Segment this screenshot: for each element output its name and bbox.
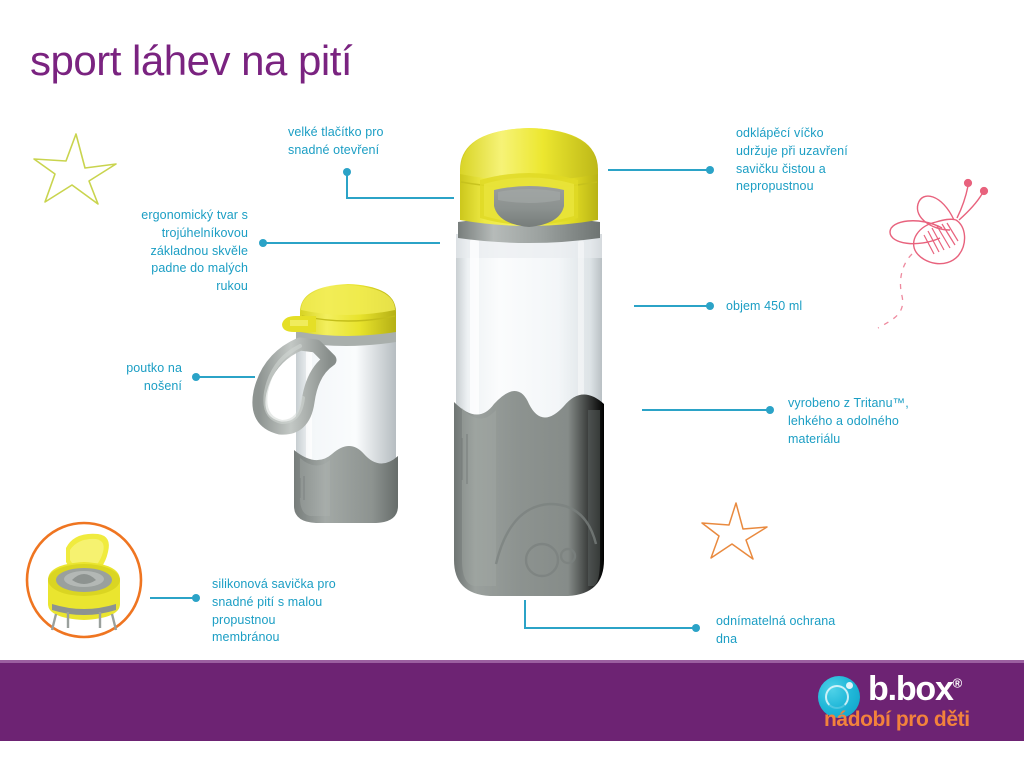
bbox-logo: b.box® nádobí pro děti	[818, 672, 998, 734]
connector-line-carry-loop	[197, 376, 255, 378]
bbox-brand-text: b.box	[868, 670, 953, 708]
callout-carry-loop: poutko na nošení	[60, 360, 182, 396]
large-bottle-image	[418, 108, 640, 628]
callout-removable-base: odnímatelná ochrana dna	[716, 613, 896, 649]
callout-tritan-material: vyrobeno z Tritanu™, lehkého a odolného …	[788, 395, 958, 448]
bee-doodle-icon	[862, 172, 1002, 340]
connector-line-tritan	[642, 409, 768, 411]
page-title: sport láhev na pití	[30, 40, 352, 82]
connector-line-volume	[634, 305, 708, 307]
star-green-icon	[28, 128, 120, 210]
connector-line-flip-lid	[608, 169, 708, 171]
connector-line-big-button-v	[346, 174, 348, 199]
infographic-canvas: sport láhev na pití	[0, 0, 1024, 768]
small-bottle-image	[246, 282, 414, 530]
bbox-tagline: nádobí pro děti	[824, 708, 970, 732]
callout-flip-lid: odklápěcí víčko udržuje při uzavření sav…	[736, 125, 916, 196]
callout-ergonomic-shape: ergonomický tvar s trojúhelníkovou zákla…	[96, 207, 248, 296]
connector-line-base-v	[524, 600, 526, 629]
connector-line-base-h	[524, 627, 696, 629]
callout-silicone-spout: silikonová savička pro snadné pití s mal…	[212, 576, 392, 647]
bbox-registered-mark: ®	[953, 676, 961, 691]
callout-big-button: velké tlačítko pro snadné otevření	[288, 124, 448, 160]
star-orange-icon	[698, 498, 770, 566]
callout-volume: objem 450 ml	[726, 298, 866, 316]
bbox-wordmark: b.box®	[868, 672, 961, 706]
connector-line-silicone-spout	[150, 597, 194, 599]
connector-line-big-button-h	[346, 197, 454, 199]
connector-dot-removable-base	[692, 624, 700, 632]
connector-line-ergonomic	[264, 242, 440, 244]
lid-detail-inset	[22, 518, 146, 642]
